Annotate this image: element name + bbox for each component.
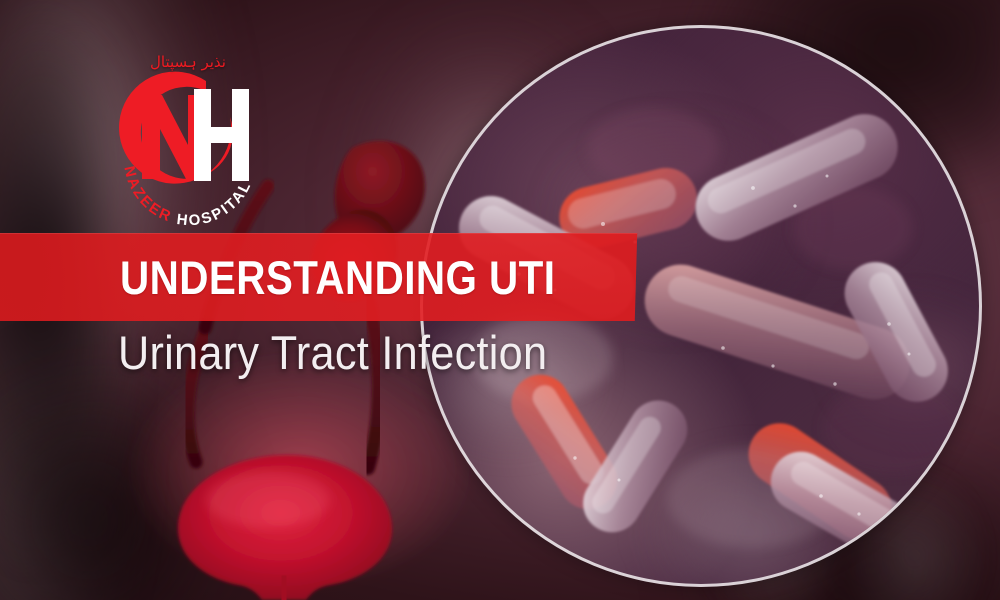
logo-letter-h	[194, 89, 249, 181]
nazeer-hospital-logo[interactable]: نذیر ہسپتال NAZEER HOSPITAL	[108, 55, 268, 215]
uti-awareness-banner: UNDERSTANDING UTI Urinary Tract Infectio…	[0, 0, 1000, 600]
logo-urdu-name: نذیر ہسپتال	[108, 55, 268, 70]
page-title: UNDERSTANDING UTI	[120, 244, 567, 310]
page-subtitle: Urinary Tract Infection	[118, 325, 547, 380]
